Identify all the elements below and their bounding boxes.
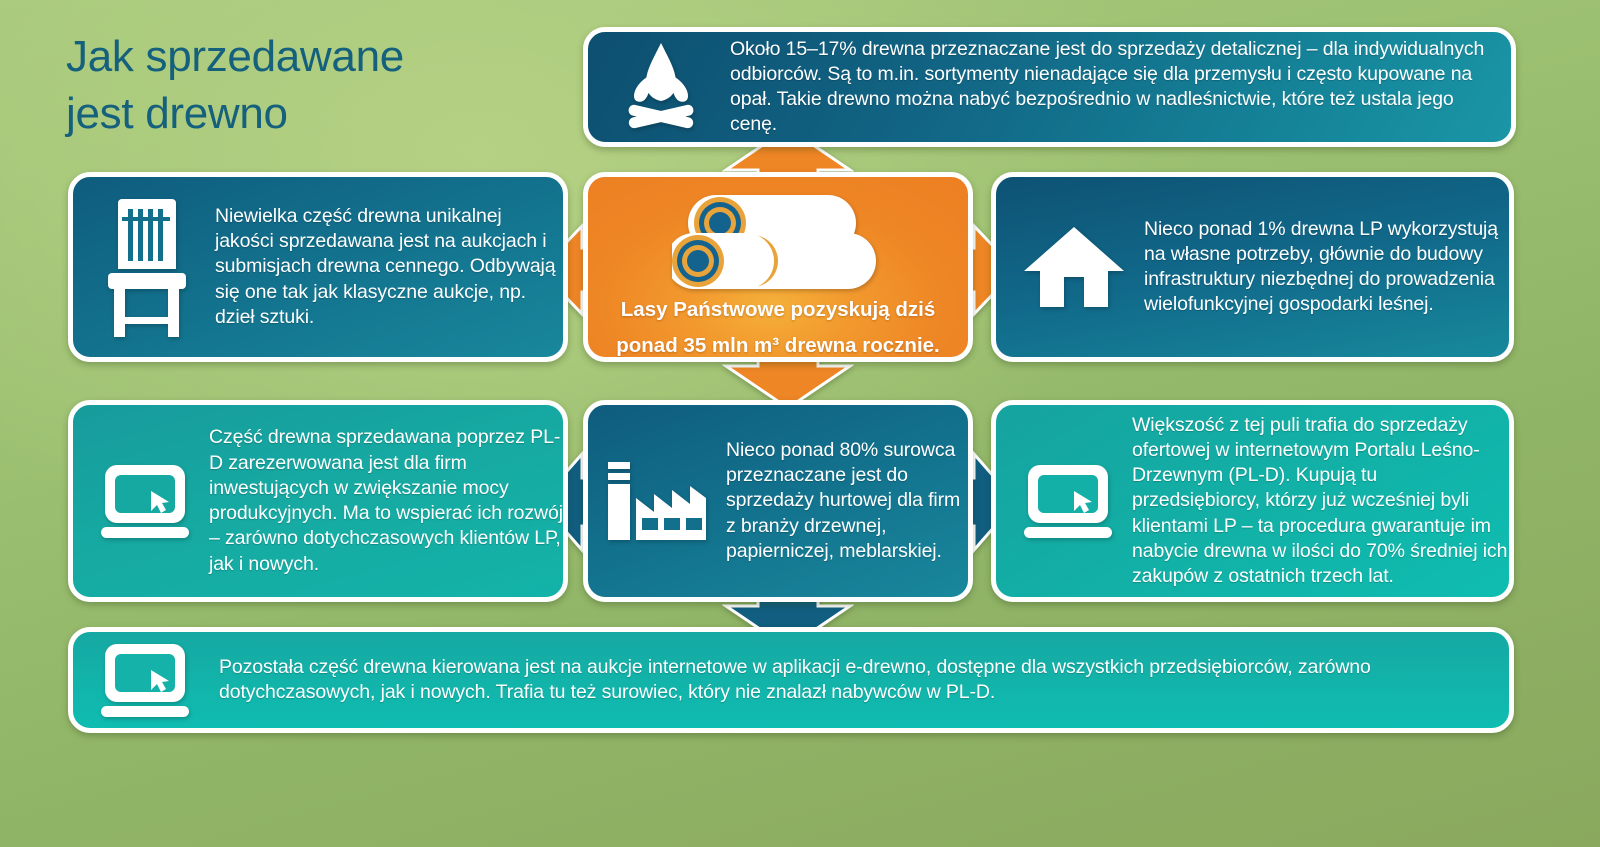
box-wholesale-text: Nieco ponad 80% surowca przeznaczane jes… [712, 438, 968, 565]
infographic-canvas: Jak sprzedawane jest drewno [0, 0, 1600, 847]
logs-icon [588, 177, 968, 297]
box-edrewno-text: Pozostała część drewna kierowana jest na… [195, 655, 1509, 706]
campfire-icon [606, 41, 716, 133]
box-center-production[interactable]: Lasy Państwowe pozyskują dziś ponad 35 m… [583, 172, 973, 362]
center-caption-line2: ponad 35 mln m³ drewna rocznie. [602, 333, 954, 362]
laptop-cursor-icon [1018, 463, 1118, 539]
chair-icon [93, 193, 201, 341]
page-title: Jak sprzedawane jest drewno [66, 28, 536, 142]
box-own-use-text: Nieco ponad 1% drewna LP wykorzystują na… [1130, 217, 1509, 318]
box-retail[interactable]: Około 15–17% drewna przeznaczane jest do… [583, 27, 1516, 147]
box-own-use[interactable]: Nieco ponad 1% drewna LP wykorzystują na… [991, 172, 1514, 362]
box-edrewno[interactable]: Pozostała część drewna kierowana jest na… [68, 627, 1514, 733]
laptop-cursor-icon [95, 642, 195, 718]
box-auction-text: Niewielka część drewna unikalnej jakości… [201, 204, 563, 330]
box-retail-text: Około 15–17% drewna przeznaczane jest do… [716, 37, 1511, 138]
box-pld-portal[interactable]: Większość z tej puli trafia do sprzedaży… [991, 400, 1514, 602]
center-caption-line1: Lasy Państwowe pozyskują dziś [607, 297, 949, 333]
box-pld-portal-text: Większość z tej puli trafia do sprzedaży… [1118, 413, 1509, 590]
house-icon [1018, 225, 1130, 309]
laptop-cursor-icon [95, 463, 195, 539]
box-pld-reserved[interactable]: Część drewna sprzedawana poprzez PL-D za… [68, 400, 568, 602]
factory-icon [600, 460, 712, 542]
box-wholesale[interactable]: Nieco ponad 80% surowca przeznaczane jes… [583, 400, 973, 602]
box-auction[interactable]: Niewielka część drewna unikalnej jakości… [68, 172, 568, 362]
box-pld-reserved-text: Część drewna sprzedawana poprzez PL-D za… [195, 425, 563, 577]
